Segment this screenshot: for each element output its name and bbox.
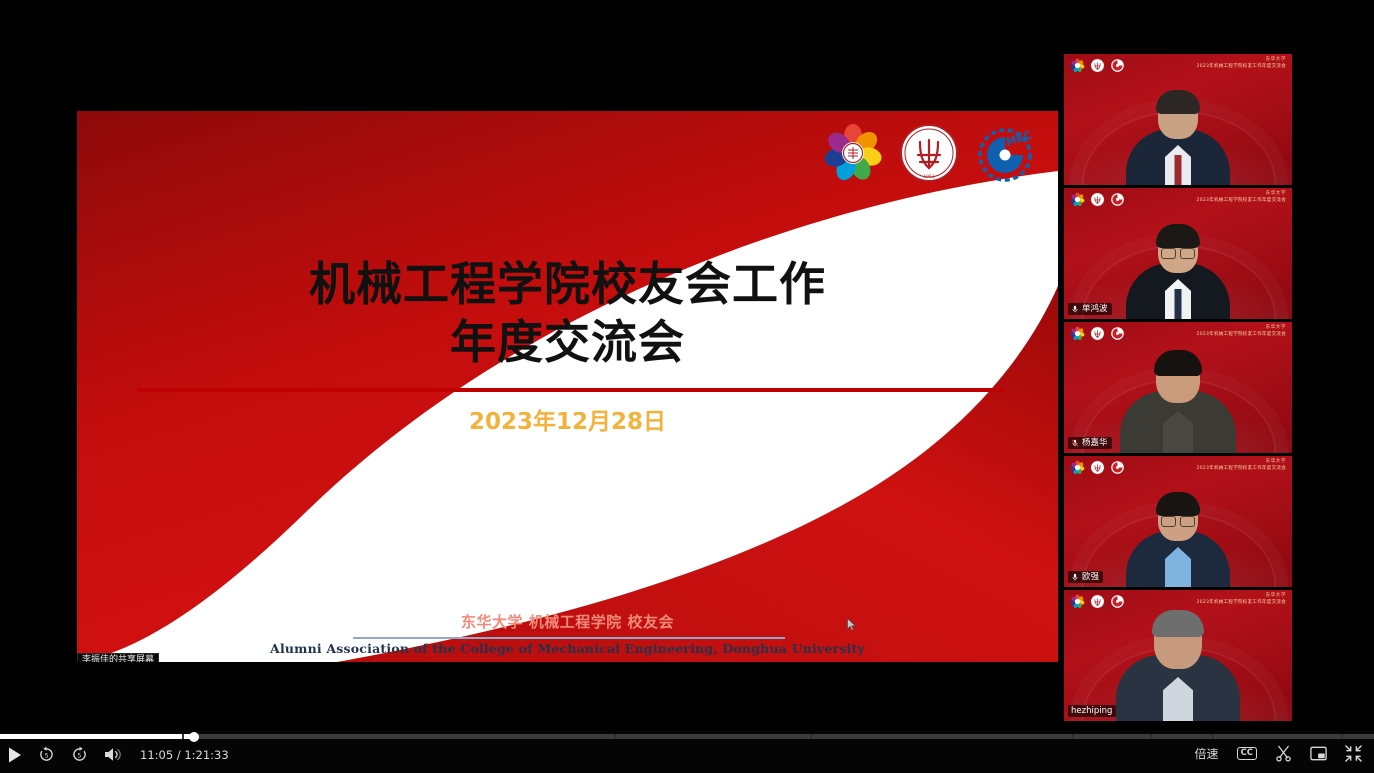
presentation-slide: 1951 MEC 机械工程学院校友会工作 年度交流会 (77, 111, 1058, 662)
participant-tile[interactable]: 东华大学 2023年机械工程学院校友工作年度交流会 (1064, 54, 1292, 185)
participant-name-tag: hezhiping (1068, 705, 1116, 717)
slide-decoration-curves (77, 111, 1058, 662)
exit-fullscreen-icon (1345, 745, 1362, 762)
donghua-university-seal-logo (1090, 58, 1105, 73)
scissors-icon (1275, 745, 1292, 762)
captions-button[interactable]: CC (1237, 747, 1257, 760)
virtual-background-logos (1070, 460, 1125, 475)
participant-tile[interactable]: 东华大学 2023年机械工程学院校友工作年度交流会 欧强 (1064, 456, 1292, 587)
donghua-university-seal-logo: 1951 (898, 122, 960, 184)
chapter-segment[interactable] (616, 734, 810, 739)
alumni-flower-logo (1070, 58, 1085, 73)
svg-text:5: 5 (45, 752, 49, 759)
clip-button[interactable] (1275, 745, 1292, 762)
progress-scrubber-handle[interactable] (189, 732, 199, 742)
donghua-university-seal-logo (1090, 326, 1105, 341)
chapter-segment[interactable] (1214, 734, 1341, 739)
participant-name-tag: 单鸿波 (1068, 303, 1112, 315)
player-right-controls: 倍速 CC (1195, 745, 1363, 762)
forward-5-button[interactable]: 5 (71, 746, 88, 763)
svg-text:5: 5 (77, 752, 81, 759)
video-player-window: 1951 MEC 机械工程学院校友会工作 年度交流会 (0, 0, 1374, 773)
alumni-flower-logo (1070, 460, 1085, 475)
svg-text:1951: 1951 (923, 174, 935, 180)
alumni-flower-logo (822, 122, 884, 184)
mec-gear-logo (1110, 460, 1125, 475)
rewind-5-button[interactable]: 5 (38, 746, 55, 763)
volume-button[interactable] (104, 747, 122, 762)
participant-tile-active-speaker[interactable]: 东华大学 2023年机械工程学院校友工作年度交流会 杨嘉华 (1064, 322, 1292, 453)
time-display: 11:05 / 1:21:33 (140, 748, 229, 762)
participant-video-strip[interactable]: 东华大学 2023年机械工程学院校友工作年度交流会 (1064, 54, 1292, 724)
slide-footer-english: Alumni Association of the College of Mec… (77, 641, 1058, 656)
shared-screen-owner-badge: 李振佳的共享屏幕 (77, 653, 159, 662)
alumni-flower-logo (1070, 326, 1085, 341)
progress-scrubber[interactable] (0, 734, 1374, 739)
mouse-cursor-icon (847, 618, 856, 631)
play-icon (8, 747, 22, 763)
participant-name-tag: 杨嘉华 (1068, 437, 1112, 449)
picture-in-picture-button[interactable] (1310, 746, 1327, 761)
rewind-5-icon: 5 (38, 746, 55, 763)
player-left-controls: 5 5 11:05 / 1:21:33 (8, 746, 229, 763)
participant-video-figure (1122, 227, 1234, 319)
mec-gear-logo: MEC (974, 122, 1036, 184)
slide-footer-chinese: 东华大学 机械工程学院 校友会 (77, 611, 1058, 632)
glasses-icon (1161, 247, 1195, 256)
participant-tile[interactable]: 东华大学 2023年机械工程学院校友工作年度交流会 单鸿波 (1064, 188, 1292, 319)
donghua-university-seal-logo (1090, 460, 1105, 475)
microphone-icon (1071, 573, 1079, 581)
participant-video-figure (1122, 495, 1234, 587)
virtual-background-title: 东华大学 2023年机械工程学院校友工作年度交流会 (1197, 191, 1286, 205)
chapter-segment[interactable] (812, 734, 1072, 739)
virtual-background-title: 东华大学 2023年机械工程学院校友工作年度交流会 (1197, 593, 1286, 607)
participant-video-figure (1118, 353, 1238, 453)
virtual-background-logos (1070, 58, 1125, 73)
virtual-background-title: 东华大学 2023年机械工程学院校友工作年度交流会 (1197, 459, 1286, 473)
donghua-university-seal-logo (1090, 192, 1105, 207)
slide-title-underline (137, 388, 1005, 392)
slide-title-line-1: 机械工程学院校友会工作 (77, 256, 1058, 314)
playback-speed-button[interactable]: 倍速 (1195, 745, 1219, 762)
participant-video-figure (1122, 93, 1234, 185)
alumni-flower-logo (1070, 594, 1085, 609)
glasses-icon (1161, 515, 1195, 524)
participant-name: hezhiping (1071, 706, 1112, 716)
mec-gear-logo (1110, 594, 1125, 609)
microphone-icon (1071, 305, 1079, 313)
pip-icon (1310, 746, 1327, 761)
player-control-bar[interactable]: 5 5 11:05 / 1:21:33 倍速 CC (0, 731, 1374, 773)
virtual-background-logos (1070, 192, 1125, 207)
virtual-background-logos (1070, 326, 1125, 341)
mec-gear-logo (1110, 192, 1125, 207)
slide-title: 机械工程学院校友会工作 年度交流会 (77, 256, 1058, 371)
chapter-segment[interactable] (1074, 734, 1150, 739)
forward-5-icon: 5 (71, 746, 88, 763)
chapter-segment[interactable] (0, 734, 182, 739)
participant-name: 单鸿波 (1082, 304, 1108, 314)
participant-name: 杨嘉华 (1082, 438, 1108, 448)
participant-name: 欧强 (1082, 572, 1099, 582)
participant-name-tag: 欧强 (1068, 571, 1103, 583)
shared-screen-stage[interactable]: 1951 MEC 机械工程学院校友会工作 年度交流会 (0, 0, 1058, 731)
alumni-flower-logo (1070, 192, 1085, 207)
chapter-segment[interactable] (1152, 734, 1212, 739)
volume-icon (104, 747, 122, 762)
mec-gear-logo (1110, 58, 1125, 73)
virtual-background-title: 东华大学 2023年机械工程学院校友工作年度交流会 (1197, 57, 1286, 71)
chapter-segment[interactable] (184, 734, 614, 739)
slide-title-line-2: 年度交流会 (77, 314, 1058, 372)
donghua-university-seal-logo (1090, 594, 1105, 609)
microphone-muted-icon (1071, 439, 1079, 447)
slide-footer-divider (353, 637, 785, 639)
slide-logo-row: 1951 MEC (822, 122, 1036, 184)
participant-video-figure (1115, 613, 1241, 721)
exit-fullscreen-button[interactable] (1345, 745, 1362, 762)
virtual-background-logos (1070, 594, 1125, 609)
slide-date: 2023年12月28日 (77, 402, 1058, 436)
virtual-background-title: 东华大学 2023年机械工程学院校友工作年度交流会 (1197, 325, 1286, 339)
chapter-segment[interactable] (1343, 734, 1374, 739)
mec-gear-logo (1110, 326, 1125, 341)
participant-tile[interactable]: 东华大学 2023年机械工程学院校友工作年度交流会 hezhiping (1064, 590, 1292, 721)
play-button[interactable] (8, 747, 22, 763)
